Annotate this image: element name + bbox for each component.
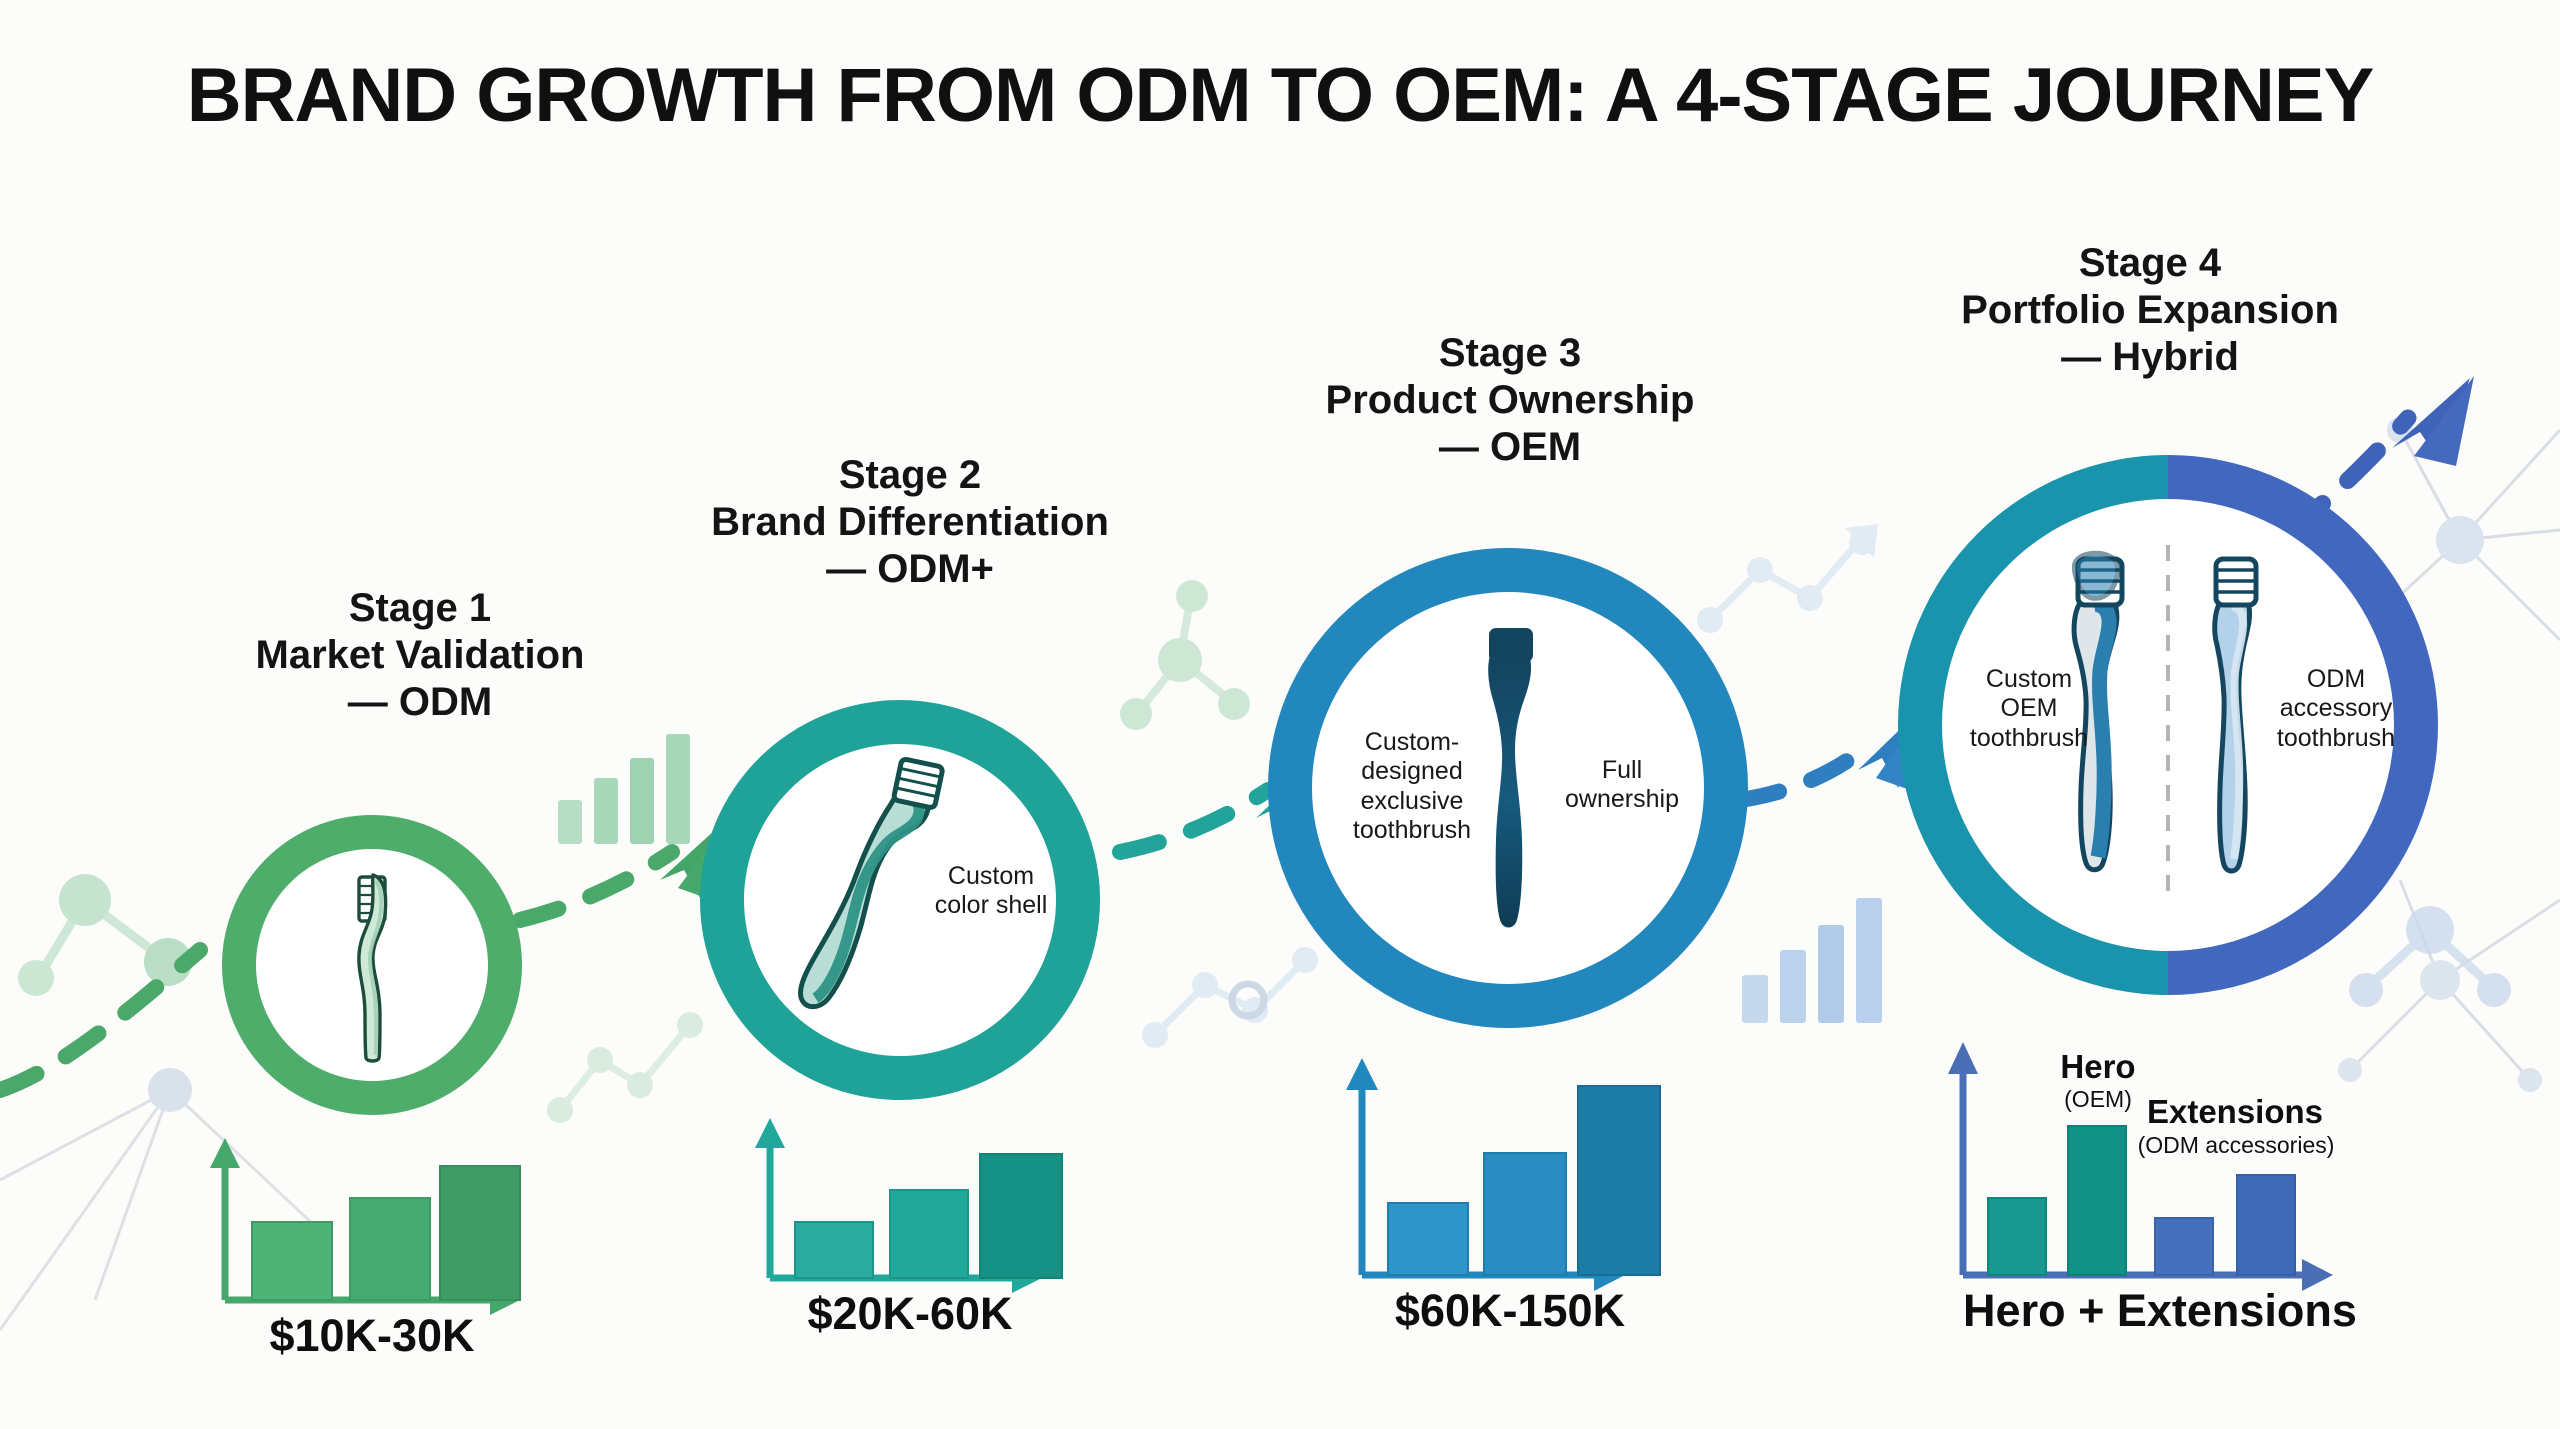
stage-3-money: $60K-150K xyxy=(1280,1285,1740,1337)
stage-4-money: Hero + Extensions xyxy=(1900,1285,2420,1337)
stage-1-money: $10K-30K xyxy=(142,1310,602,1362)
stage-4-extensions-label: Extensions xyxy=(2110,1093,2360,1131)
stage-4-hero-label: Hero xyxy=(1998,1048,2198,1086)
stage-4-extensions-sublabel: (ODM accessories) xyxy=(2086,1132,2386,1159)
stage-4-bar-chart xyxy=(0,0,2560,1429)
stage-2-money: $20K-60K xyxy=(680,1288,1140,1340)
